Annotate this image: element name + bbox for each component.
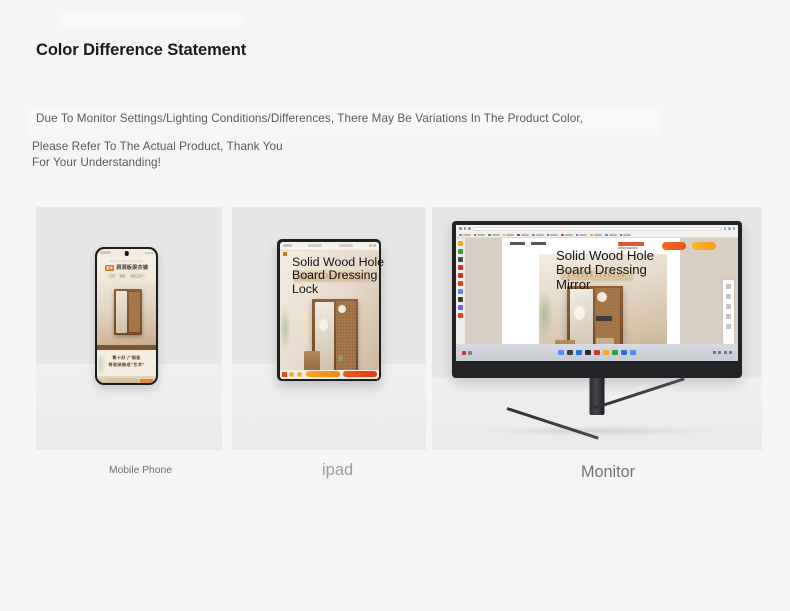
taskbar-icon-dark-app[interactable] bbox=[585, 350, 591, 356]
ipad-shop-icon[interactable] bbox=[282, 372, 287, 377]
bookmark-item[interactable] bbox=[474, 234, 486, 237]
notice-line-1: Due To Monitor Settings/Lighting Conditi… bbox=[36, 112, 583, 125]
ipad-add-to-cart-button[interactable] bbox=[306, 371, 340, 377]
monitor-stand-leg-right bbox=[593, 377, 685, 410]
tray-icon-clock[interactable] bbox=[729, 351, 732, 354]
taskbar-icon-amber-app[interactable] bbox=[603, 350, 609, 356]
ipad-logo-icon bbox=[283, 252, 287, 256]
phone-pegboard-graphic bbox=[129, 292, 140, 332]
phone-tag-list: 空间 收纳 装饰三合一 bbox=[97, 273, 157, 278]
bookmark-item[interactable] bbox=[605, 234, 617, 237]
panel-mobile-phone: family whole details 实木 洞洞板梁衣镜 空间 收纳 装饰三… bbox=[36, 207, 222, 450]
bookmark-item[interactable] bbox=[532, 234, 544, 237]
sidebar-icon-2[interactable] bbox=[458, 249, 463, 254]
phone-mirror-graphic bbox=[116, 291, 127, 333]
phone-bottom-button[interactable] bbox=[140, 379, 153, 383]
monitor-ground-shadow bbox=[480, 426, 718, 436]
ipad-favorite-icon[interactable] bbox=[297, 372, 302, 377]
browser-profile-icon[interactable] bbox=[728, 227, 731, 230]
ipad-back-icon[interactable] bbox=[283, 244, 292, 246]
phone-camera-notch-icon bbox=[124, 251, 129, 256]
panel-monitor bbox=[432, 207, 762, 450]
browser-extension-icon[interactable] bbox=[724, 227, 727, 230]
ipad-bottom-bar bbox=[280, 370, 379, 379]
taskbar-icon-chrome[interactable] bbox=[576, 350, 582, 356]
device-panels: family whole details 实木 洞洞板梁衣镜 空间 收纳 装饰三… bbox=[0, 207, 790, 450]
taskbar-icon-explorer[interactable] bbox=[558, 350, 564, 356]
ipad-service-icon[interactable] bbox=[289, 372, 294, 377]
monitor-screen bbox=[456, 225, 738, 361]
tray-icon-volume[interactable] bbox=[718, 351, 721, 354]
ipad-overlay-title: Solid Wood Hole Board Dressing Lock bbox=[292, 256, 384, 296]
taskbar-icon-green-app[interactable] bbox=[612, 350, 618, 356]
site-nav-item[interactable] bbox=[531, 242, 546, 245]
taskbar-icon-terminal[interactable] bbox=[567, 350, 573, 356]
dock-icon-1[interactable] bbox=[726, 284, 731, 289]
phone-tag: 装饰三合一 bbox=[129, 273, 146, 278]
start-icon[interactable] bbox=[462, 351, 466, 355]
top-faint-band bbox=[58, 14, 243, 26]
browser-bookmarks-bar bbox=[456, 232, 738, 238]
ipad-leaf-decor-icon bbox=[281, 306, 291, 352]
ipad-buy-now-button[interactable] bbox=[343, 371, 377, 377]
sidebar-icon-6[interactable] bbox=[458, 281, 463, 286]
bookmark-item[interactable] bbox=[517, 234, 529, 237]
bookmark-item[interactable] bbox=[488, 234, 500, 237]
tray-icon-battery[interactable] bbox=[724, 351, 727, 354]
page-title: Color Difference Statement bbox=[36, 41, 246, 60]
sidebar-icon-7[interactable] bbox=[458, 289, 463, 294]
ipad-tab-title[interactable] bbox=[339, 244, 353, 246]
ipad-tab-title[interactable] bbox=[308, 244, 322, 246]
browser-chrome bbox=[456, 225, 738, 238]
browser-reload-icon[interactable] bbox=[468, 227, 471, 230]
taskbar-system-tray bbox=[713, 351, 733, 354]
taskbar-start-group bbox=[462, 351, 472, 355]
ipad-cabinet-graphic bbox=[304, 351, 320, 370]
bookmark-item[interactable] bbox=[503, 234, 515, 237]
browser-forward-icon[interactable] bbox=[464, 227, 467, 230]
bookmark-item[interactable] bbox=[576, 234, 588, 237]
ipad-plant-graphic bbox=[338, 355, 343, 361]
windows-taskbar bbox=[456, 344, 738, 361]
site-nav-item[interactable] bbox=[510, 242, 525, 245]
ipad-hat-graphic bbox=[338, 305, 346, 313]
ipad-top-bar bbox=[280, 242, 379, 251]
bookmark-item[interactable] bbox=[590, 234, 602, 237]
sidebar-icon-10[interactable] bbox=[458, 313, 463, 318]
browser-menu-icon[interactable] bbox=[733, 227, 736, 230]
dock-icon-5[interactable] bbox=[726, 324, 731, 329]
taskview-icon[interactable] bbox=[468, 351, 472, 355]
add-to-cart-button[interactable] bbox=[662, 242, 686, 250]
phone-header: family whole details 实木 洞洞板梁衣镜 空间 收纳 装饰三… bbox=[97, 257, 157, 283]
ipad-mirror-oval-graphic bbox=[319, 319, 328, 331]
color-difference-page: Color Difference Statement Due To Monito… bbox=[0, 0, 790, 611]
monitor-mirror-oval-graphic bbox=[574, 306, 585, 320]
buy-now-button[interactable] bbox=[692, 242, 716, 250]
phone-device: family whole details 实木 洞洞板梁衣镜 空间 收纳 装饰三… bbox=[95, 247, 158, 385]
ipad-top-icons[interactable] bbox=[369, 244, 376, 247]
dock-icon-4[interactable] bbox=[726, 314, 731, 319]
caption-ipad: ipad bbox=[322, 461, 353, 480]
taskbar-app-icons bbox=[558, 350, 636, 356]
browser-site-nav[interactable] bbox=[510, 242, 546, 245]
phone-headline: 洞洞板梁衣镜 bbox=[116, 264, 148, 271]
taskbar-icon-blue-app[interactable] bbox=[621, 350, 627, 356]
browser-url-row bbox=[456, 225, 738, 232]
phone-hero-image bbox=[97, 283, 157, 345]
phone-title-row: 实木 洞洞板梁衣镜 bbox=[97, 264, 157, 271]
sidebar-icon-4[interactable] bbox=[458, 265, 463, 270]
bookmark-item[interactable] bbox=[620, 234, 632, 237]
monitor-frame bbox=[452, 221, 742, 378]
dock-icon-3[interactable] bbox=[726, 304, 731, 309]
taskbar-icon-red-app[interactable] bbox=[594, 350, 600, 356]
sidebar-icon-1[interactable] bbox=[458, 241, 463, 246]
panel-ipad bbox=[232, 207, 426, 450]
caption-mobile-phone: Mobile Phone bbox=[109, 465, 172, 476]
phone-tag: 空间 bbox=[107, 273, 116, 278]
bookmark-item[interactable] bbox=[561, 234, 573, 237]
taskbar-icon-edge[interactable] bbox=[630, 350, 636, 356]
monitor-leaf-decor-icon bbox=[539, 290, 553, 340]
monitor-shelf-1-graphic bbox=[596, 316, 612, 321]
browser-back-icon[interactable] bbox=[459, 227, 462, 230]
monitor-hat-graphic bbox=[597, 292, 607, 302]
ipad-lamp-glow bbox=[300, 311, 310, 335]
dock-icon-2[interactable] bbox=[726, 294, 731, 299]
monitor-overlay-title: Solid Wood Hole Board Dressing Mirror bbox=[556, 249, 654, 292]
phone-badge: 实木 bbox=[105, 265, 115, 271]
monitor-stand-neck bbox=[590, 378, 605, 415]
bookmark-item[interactable] bbox=[547, 234, 559, 237]
phone-leaf-decor-icon bbox=[98, 355, 107, 377]
sidebar-icon-8[interactable] bbox=[458, 297, 463, 302]
tray-icon-network[interactable] bbox=[713, 351, 716, 354]
caption-monitor: Monitor bbox=[581, 463, 635, 482]
phone-tag: 收纳 bbox=[118, 273, 127, 278]
sidebar-icon-3[interactable] bbox=[458, 257, 463, 262]
phone-screen: family whole details 实木 洞洞板梁衣镜 空间 收纳 装饰三… bbox=[97, 249, 157, 384]
phone-status-right-icons bbox=[145, 252, 153, 254]
browser-address-bar[interactable] bbox=[473, 227, 722, 231]
sidebar-icon-9[interactable] bbox=[458, 305, 463, 310]
browser-right-dock bbox=[723, 280, 734, 344]
notice-line-2: Please Refer To The Actual Product, Than… bbox=[32, 140, 283, 153]
sidebar-icon-5[interactable] bbox=[458, 273, 463, 278]
phone-eyebrow-text: family whole details bbox=[97, 260, 157, 263]
notice-line-3: For Your Understanding! bbox=[32, 156, 161, 169]
phone-bottom-card bbox=[109, 378, 137, 384]
product-price-value bbox=[618, 242, 644, 246]
bookmark-item[interactable] bbox=[459, 234, 471, 237]
phone-status-left-icon bbox=[100, 251, 111, 254]
browser-left-sidebar bbox=[456, 238, 465, 344]
